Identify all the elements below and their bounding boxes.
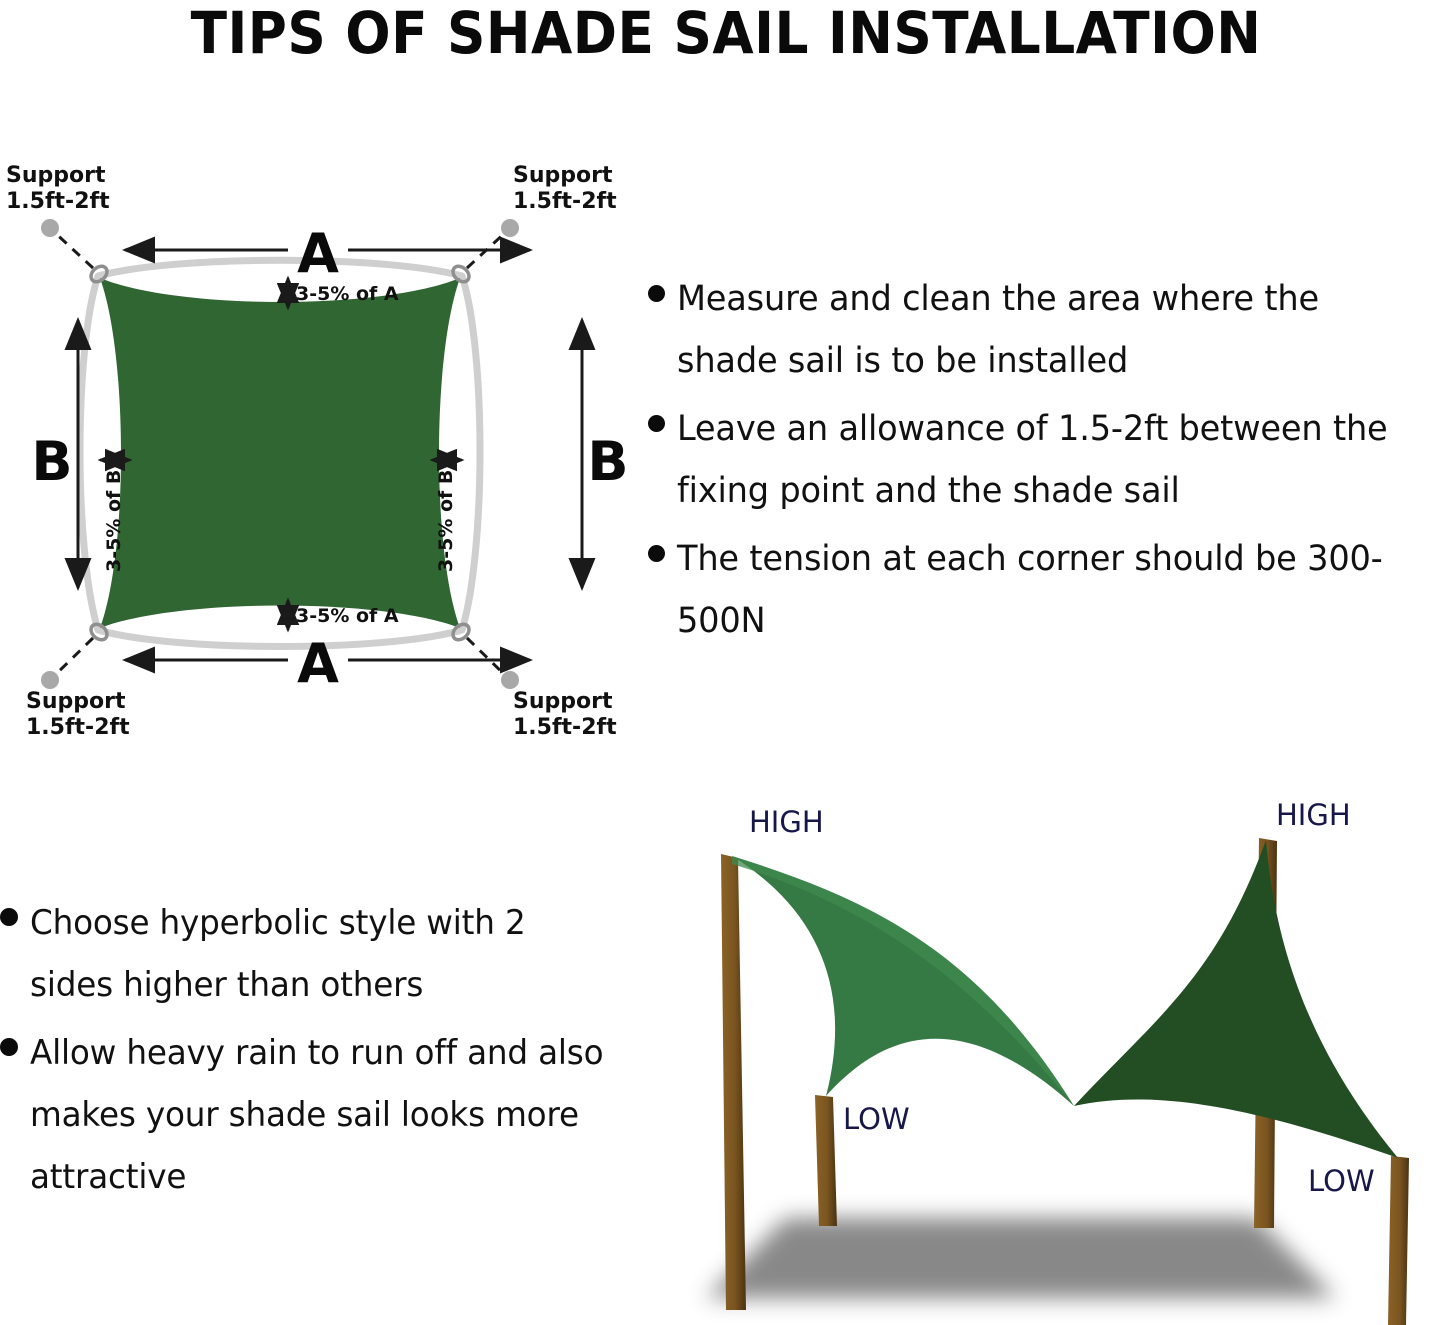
support-label-top-left: Support 1.5ft-2ft — [6, 163, 110, 214]
support-label-bottom-left: Support 1.5ft-2ft — [26, 689, 130, 740]
tip-text: Choose hyperbolic style with 2 sides hig… — [30, 892, 606, 1016]
bullet-icon — [648, 545, 665, 562]
label-low-left: LOW — [843, 1102, 910, 1136]
ground-shadow — [706, 1218, 1336, 1298]
dimension-label-a-top: A — [297, 222, 339, 285]
post-low-right — [1388, 1156, 1409, 1325]
sail-panel-rear — [1074, 840, 1398, 1158]
bullet-icon — [648, 415, 665, 432]
support-label-line2: 1.5ft-2ft — [513, 189, 617, 214]
dimension-b-left: B — [31, 320, 78, 588]
list-item: Leave an allowance of 1.5-2ft between th… — [648, 398, 1452, 522]
curvature-note-left-text: 3-5% of B — [103, 470, 125, 572]
curvature-note-right-text: 3-5% of B — [435, 470, 457, 572]
support-label-line1: Support — [26, 689, 126, 714]
tip-text: Allow heavy rain to run off and also mak… — [30, 1022, 606, 1208]
page-title: TIPS OF SHADE SAIL INSTALLATION — [58, 0, 1394, 64]
support-label-bottom-right: Support 1.5ft-2ft — [513, 689, 617, 740]
list-item: Measure and clean the area where the sha… — [648, 268, 1452, 392]
dimension-label-a-bottom: A — [297, 632, 339, 695]
tip-text: Leave an allowance of 1.5-2ft between th… — [677, 398, 1423, 522]
rectangular-sail-diagram: Support 1.5ft-2ft Support 1.5ft-2ft Supp… — [0, 160, 660, 740]
support-label-line1: Support — [513, 689, 613, 714]
post-high-left — [721, 854, 746, 1310]
list-item: Choose hyperbolic style with 2 sides hig… — [0, 892, 630, 1016]
sail-panel-front — [732, 856, 1074, 1106]
label-high-left: HIGH — [749, 805, 824, 839]
support-label-line2: 1.5ft-2ft — [6, 189, 110, 214]
support-label-line2: 1.5ft-2ft — [513, 715, 617, 740]
hyperbolic-sail-diagram: HIGH HIGH LOW LOW — [676, 788, 1452, 1325]
tips-list-top: Measure and clean the area where the sha… — [648, 268, 1452, 658]
dimension-label-b-left: B — [31, 430, 72, 493]
curvature-note-bottom-text: 3-5% of A — [296, 605, 399, 627]
label-low-right: LOW — [1308, 1164, 1375, 1198]
tip-text: The tension at each corner should be 300… — [677, 528, 1423, 652]
support-label-line1: Support — [513, 163, 613, 188]
sail-body — [100, 278, 460, 628]
bullet-icon — [0, 908, 18, 926]
tip-text: Measure and clean the area where the sha… — [677, 268, 1423, 392]
support-label-line1: Support — [6, 163, 106, 188]
post-low-left — [815, 1095, 837, 1226]
tips-list-bottom: Choose hyperbolic style with 2 sides hig… — [0, 892, 630, 1214]
support-label-line2: 1.5ft-2ft — [26, 715, 130, 740]
label-high-right: HIGH — [1276, 798, 1351, 832]
bullet-icon — [648, 285, 665, 302]
curvature-note-top: 3-5% of A — [288, 278, 399, 308]
list-item: The tension at each corner should be 300… — [648, 528, 1452, 652]
support-label-top-right: Support 1.5ft-2ft — [513, 163, 617, 214]
list-item: Allow heavy rain to run off and also mak… — [0, 1022, 630, 1208]
curvature-note-top-text: 3-5% of A — [296, 283, 399, 305]
dimension-label-b-right: B — [587, 430, 628, 493]
bullet-icon — [0, 1038, 18, 1056]
curvature-note-bottom: 3-5% of A — [288, 600, 399, 630]
dimension-b-right: B — [582, 320, 629, 588]
